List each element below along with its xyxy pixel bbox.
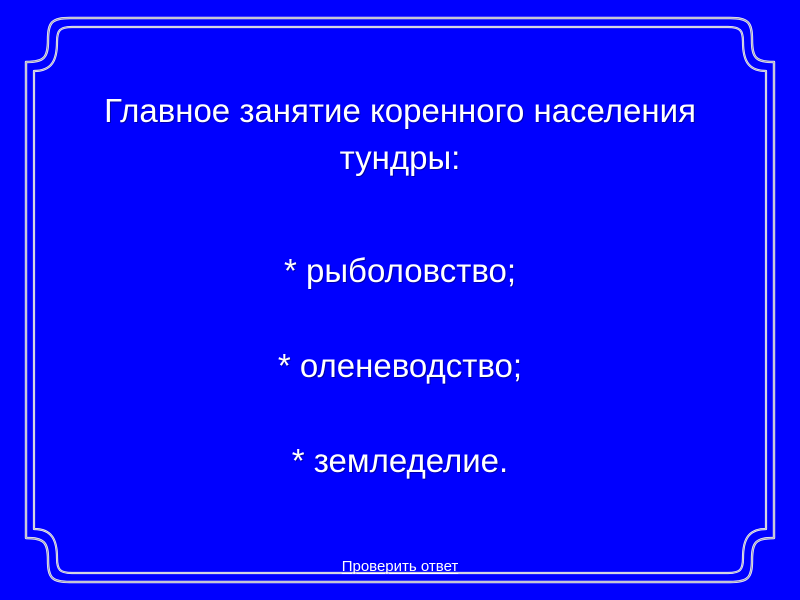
slide-content: Главное занятие коренного населения тунд… — [30, 34, 770, 544]
question-title-line-2: тундры: — [30, 135, 770, 182]
footer-area: Проверить ответ — [0, 558, 800, 576]
check-answer-link[interactable]: Проверить ответ — [342, 558, 459, 575]
answer-option-1[interactable]: * рыболовство; — [30, 254, 770, 287]
quiz-slide: Главное занятие коренного населения тунд… — [0, 0, 800, 600]
answer-option-2[interactable]: * оленеводство; — [30, 349, 770, 382]
answer-options-list: * рыболовство; * оленеводство; * земледе… — [30, 182, 770, 477]
question-title-line-1: Главное занятие коренного населения — [30, 88, 770, 135]
answer-option-3[interactable]: * земледелие. — [30, 444, 770, 477]
